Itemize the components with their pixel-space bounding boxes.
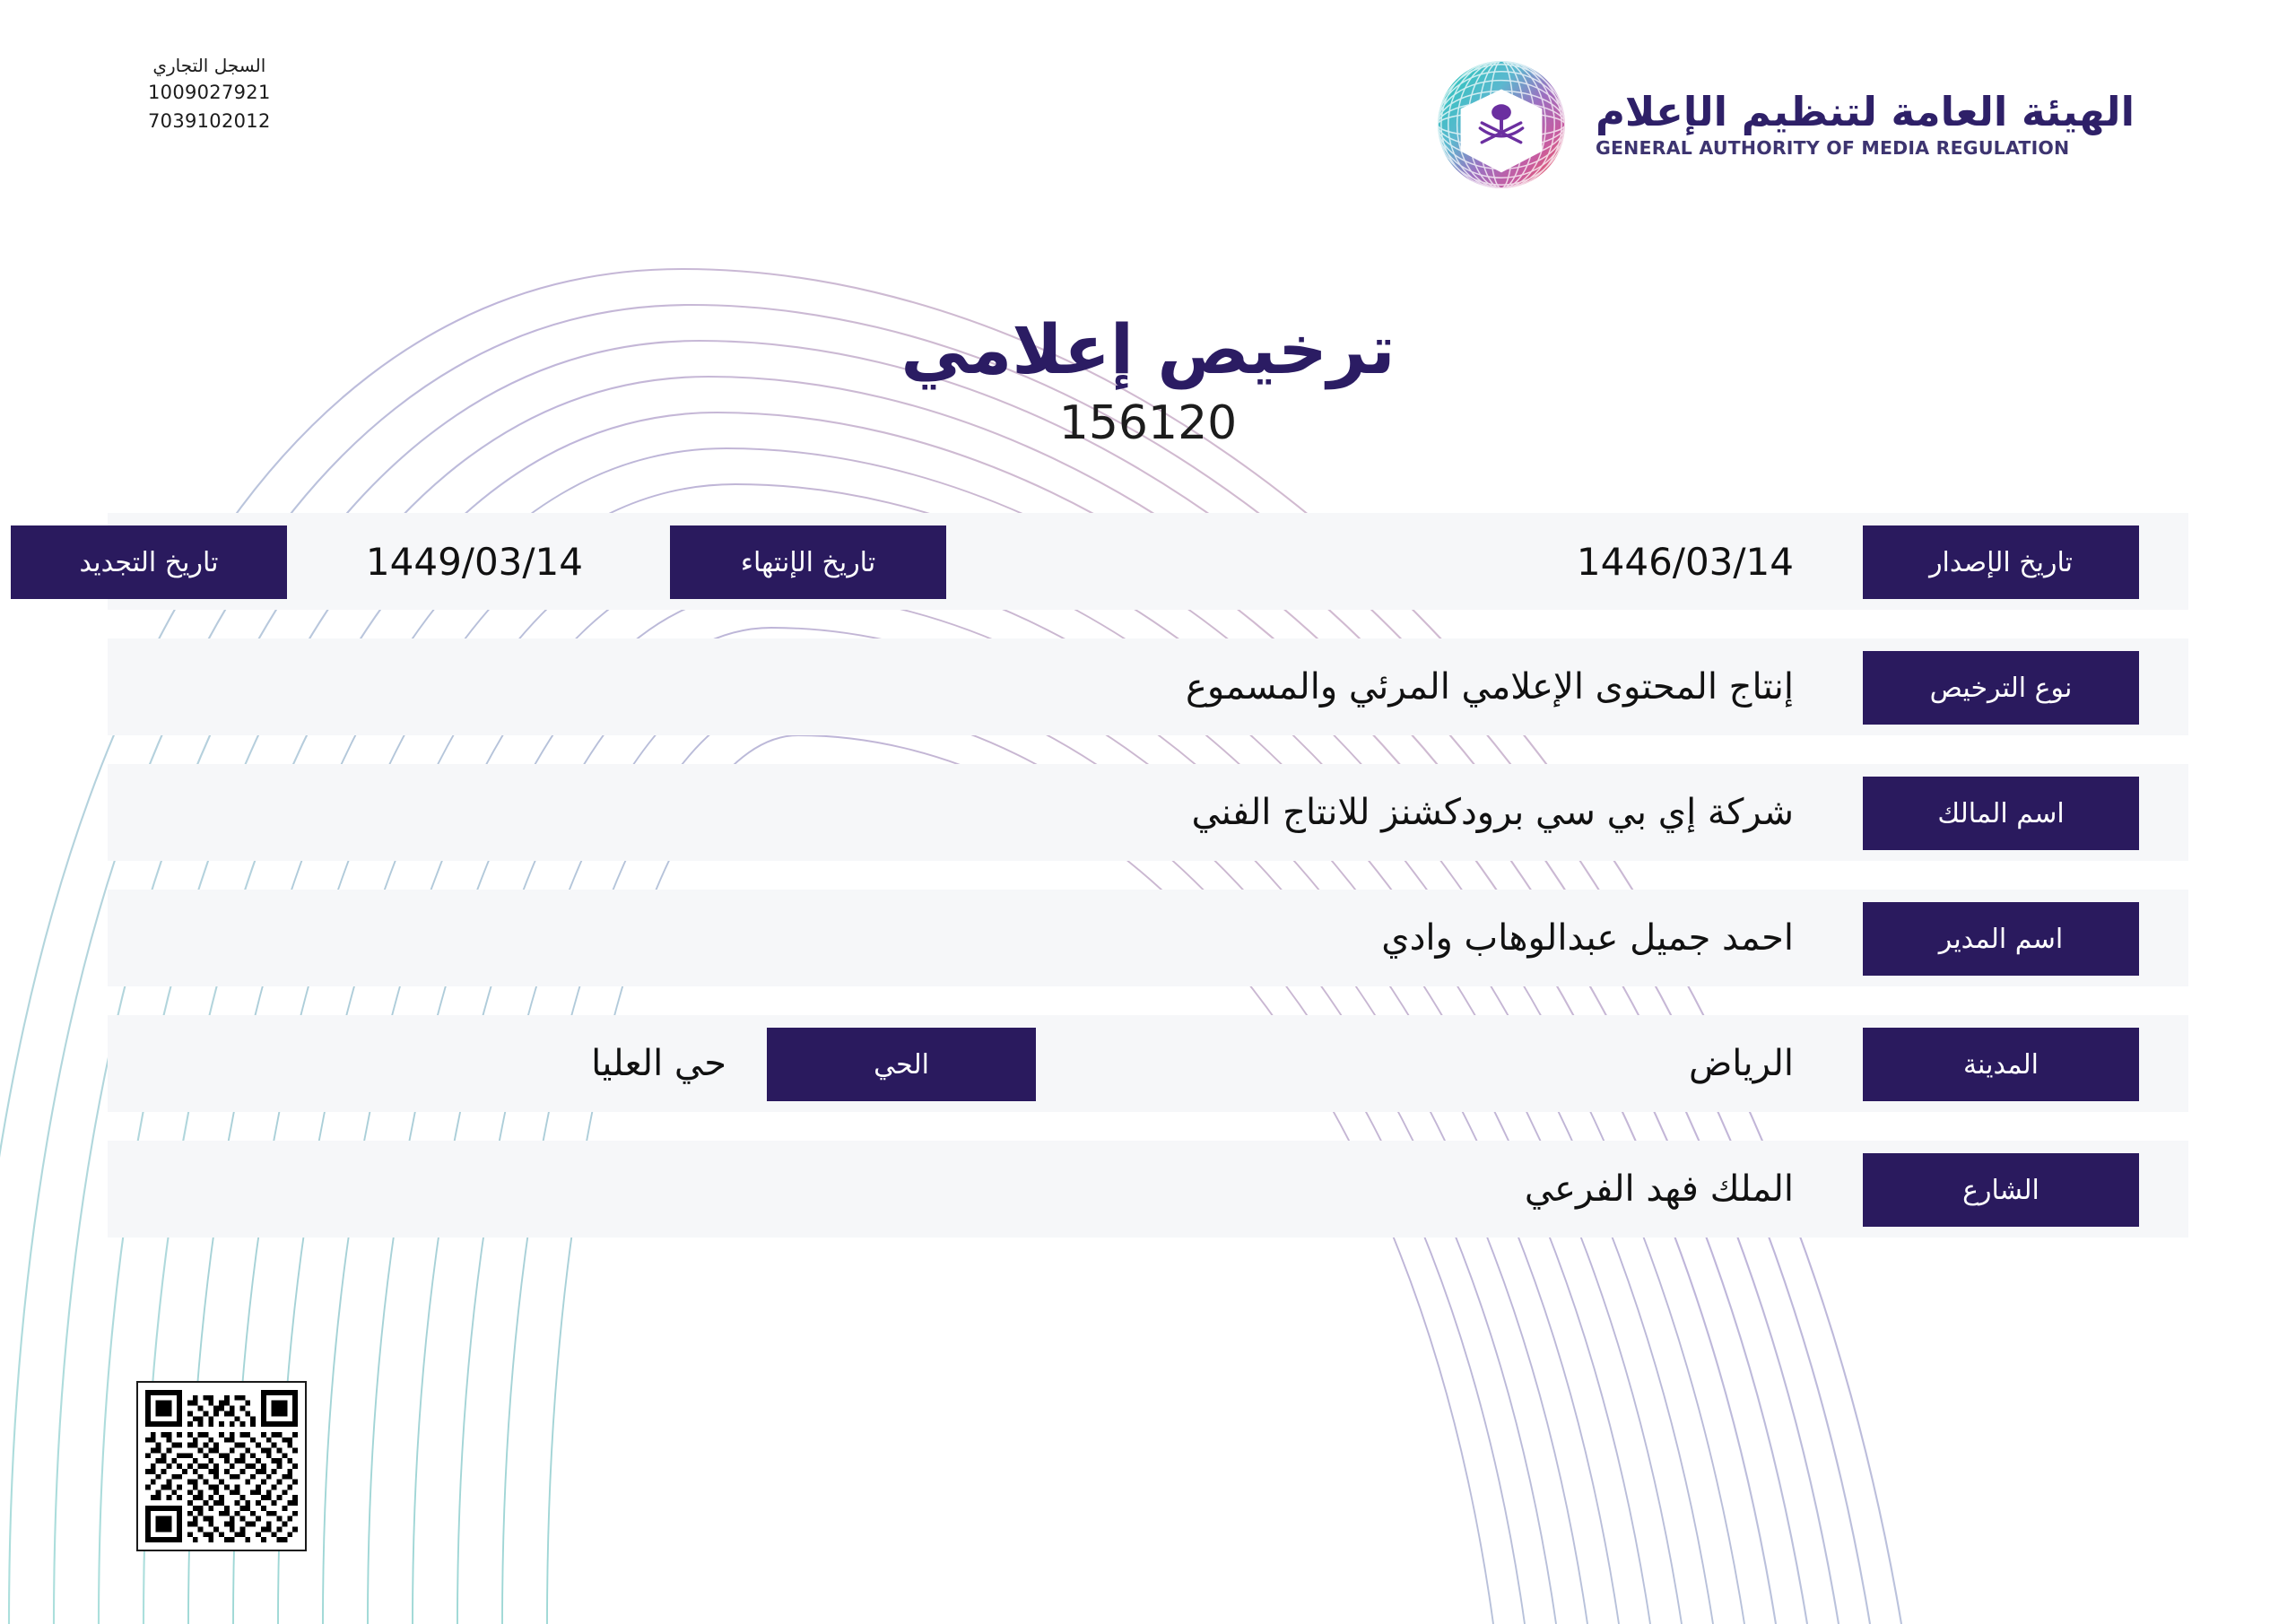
city-label: المدينة bbox=[1863, 1028, 2139, 1101]
saudi-emblem-glyph bbox=[1480, 104, 1522, 142]
street-value: الملك فهد الفرعي bbox=[1525, 1141, 1794, 1238]
page-title: ترخيص إعلامي bbox=[0, 316, 2296, 384]
expiry-date-value: 1449/03/14 bbox=[366, 513, 583, 610]
license-document: السجل التجاري 1009027921 7039102012 bbox=[0, 0, 2296, 1624]
authority-name-arabic: الهيئة العامة لتنظيم الإعلام bbox=[1596, 91, 2135, 133]
authority-name-english: GENERAL AUTHORITY OF MEDIA REGULATION bbox=[1596, 137, 2135, 159]
table-row-manager: اسم المدير احمد جميل عبدالوهاب وادي bbox=[108, 890, 2188, 986]
owner-name-label: اسم المالك bbox=[1863, 777, 2139, 850]
authority-logo: الهيئة العامة لتنظيم الإعلام GENERAL AUT… bbox=[1431, 54, 2135, 195]
qr-code-icon bbox=[145, 1390, 298, 1542]
issue-date-label: تاريخ الإصدار bbox=[1863, 525, 2139, 599]
table-row-street: الشارع الملك فهد الفرعي bbox=[108, 1141, 2188, 1238]
license-number: 156120 bbox=[0, 400, 2296, 447]
commercial-register-label: السجل التجاري bbox=[148, 52, 271, 79]
expiry-date-label: تاريخ الإنتهاء bbox=[670, 525, 946, 599]
manager-name-label: اسم المدير bbox=[1863, 902, 2139, 976]
commercial-register-number-2: 7039102012 bbox=[148, 108, 271, 136]
renewal-date-value bbox=[27, 513, 296, 610]
license-type-label: نوع الترخيص bbox=[1863, 651, 2139, 725]
document-title-block: ترخيص إعلامي 156120 bbox=[0, 316, 2296, 447]
manager-name-value: احمد جميل عبدالوهاب وادي bbox=[1381, 890, 1794, 986]
owner-name-value: شركة إي بي سي برودكشنز للانتاج الفني bbox=[1191, 764, 1794, 861]
table-row-owner: اسم المالك شركة إي بي سي برودكشنز للانتا… bbox=[108, 764, 2188, 861]
street-label: الشارع bbox=[1863, 1153, 2139, 1227]
license-type-value: إنتاج المحتوى الإعلامي المرئي والمسموع bbox=[1186, 638, 1794, 735]
issue-date-value: 1446/03/14 bbox=[1577, 513, 1794, 610]
district-label: الحي bbox=[767, 1028, 1036, 1101]
commercial-register-block: السجل التجاري 1009027921 7039102012 bbox=[148, 52, 271, 135]
table-row-dates: تاريخ الإصدار 1446/03/14 تاريخ الإنتهاء … bbox=[108, 513, 2188, 610]
commercial-register-number-1: 1009027921 bbox=[148, 79, 271, 108]
license-qr-code[interactable] bbox=[136, 1381, 307, 1551]
saudi-media-authority-emblem-icon bbox=[1431, 54, 1572, 195]
city-value: الرياض bbox=[1689, 1015, 1794, 1112]
district-value: حي العليا bbox=[591, 1015, 726, 1112]
table-row-city: المدينة الرياض الحي حي العليا bbox=[108, 1015, 2188, 1112]
license-details-table: تاريخ الإصدار 1446/03/14 تاريخ الإنتهاء … bbox=[108, 513, 2188, 1266]
table-row-license-type: نوع الترخيص إنتاج المحتوى الإعلامي المرئ… bbox=[108, 638, 2188, 735]
